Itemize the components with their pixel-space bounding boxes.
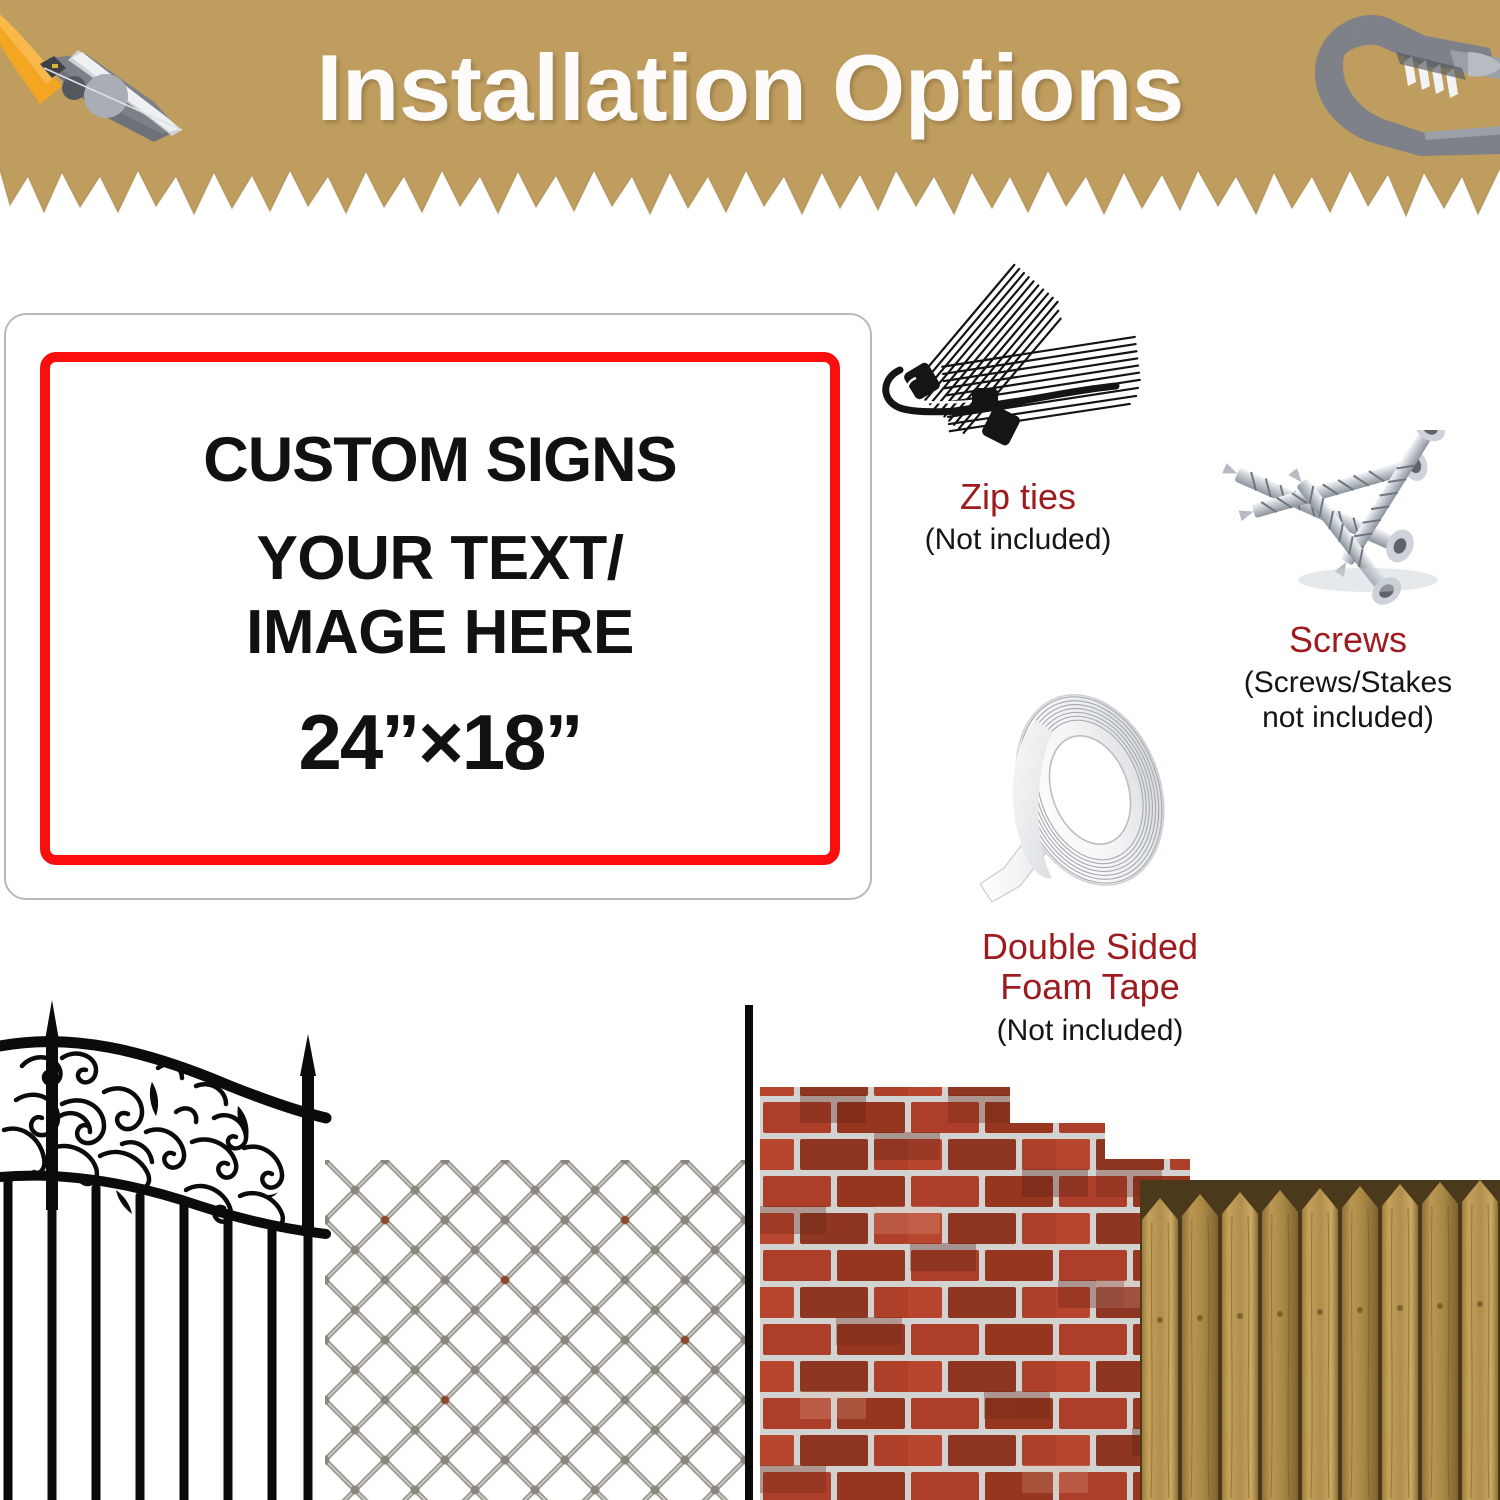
- sign-preview-card: CUSTOM SIGNS YOUR TEXT/ IMAGE HERE 24”×1…: [4, 313, 872, 900]
- section-divider: [745, 1005, 753, 1500]
- zip-ties-icon: [868, 262, 1168, 472]
- accessory-zip-ties: Zip ties (Not included): [868, 262, 1168, 558]
- mounting-surfaces-section: [0, 1000, 1500, 1500]
- custom-sign-plate: CUSTOM SIGNS YOUR TEXT/ IMAGE HERE 24”×1…: [40, 352, 840, 865]
- foam-tape-label: Double Sided Foam Tape: [940, 927, 1240, 1008]
- foam-tape-label-line-1: Double Sided: [940, 927, 1240, 967]
- screws-note-line-1: (Screws/Stakes: [1198, 666, 1498, 701]
- pliers-icon: [0, 6, 242, 166]
- wrench-icon: [1300, 6, 1500, 171]
- wood-picket-fence-icon: [1140, 1180, 1500, 1500]
- chain-link-fence-panel: [325, 1160, 750, 1500]
- sign-subline-1: YOUR TEXT/: [256, 522, 623, 595]
- sign-size-label: 24”×18”: [298, 697, 581, 788]
- zip-ties-label: Zip ties: [868, 477, 1168, 517]
- accessory-foam-tape: Double Sided Foam Tape (Not included): [940, 672, 1240, 1048]
- zip-ties-note: (Not included): [868, 523, 1168, 558]
- foam-tape-icon: [940, 672, 1240, 922]
- header-banner: Installation Options: [0, 0, 1500, 230]
- wood-fence-panel: [1140, 1180, 1500, 1500]
- iron-gate-panel: [0, 1000, 340, 1500]
- chain-link-fence-icon: [325, 1160, 750, 1500]
- screws-note-line-2: not included): [1198, 701, 1498, 736]
- wrought-iron-gate-icon: [0, 1000, 340, 1500]
- accessory-screws: Screws (Screws/Stakes not included): [1198, 430, 1498, 735]
- sign-subline-2: IMAGE HERE: [246, 596, 634, 669]
- screws-note: (Screws/Stakes not included): [1198, 666, 1498, 735]
- sign-headline: CUSTOM SIGNS: [203, 429, 676, 492]
- screws-icon: [1198, 430, 1498, 615]
- screws-label: Screws: [1198, 620, 1498, 660]
